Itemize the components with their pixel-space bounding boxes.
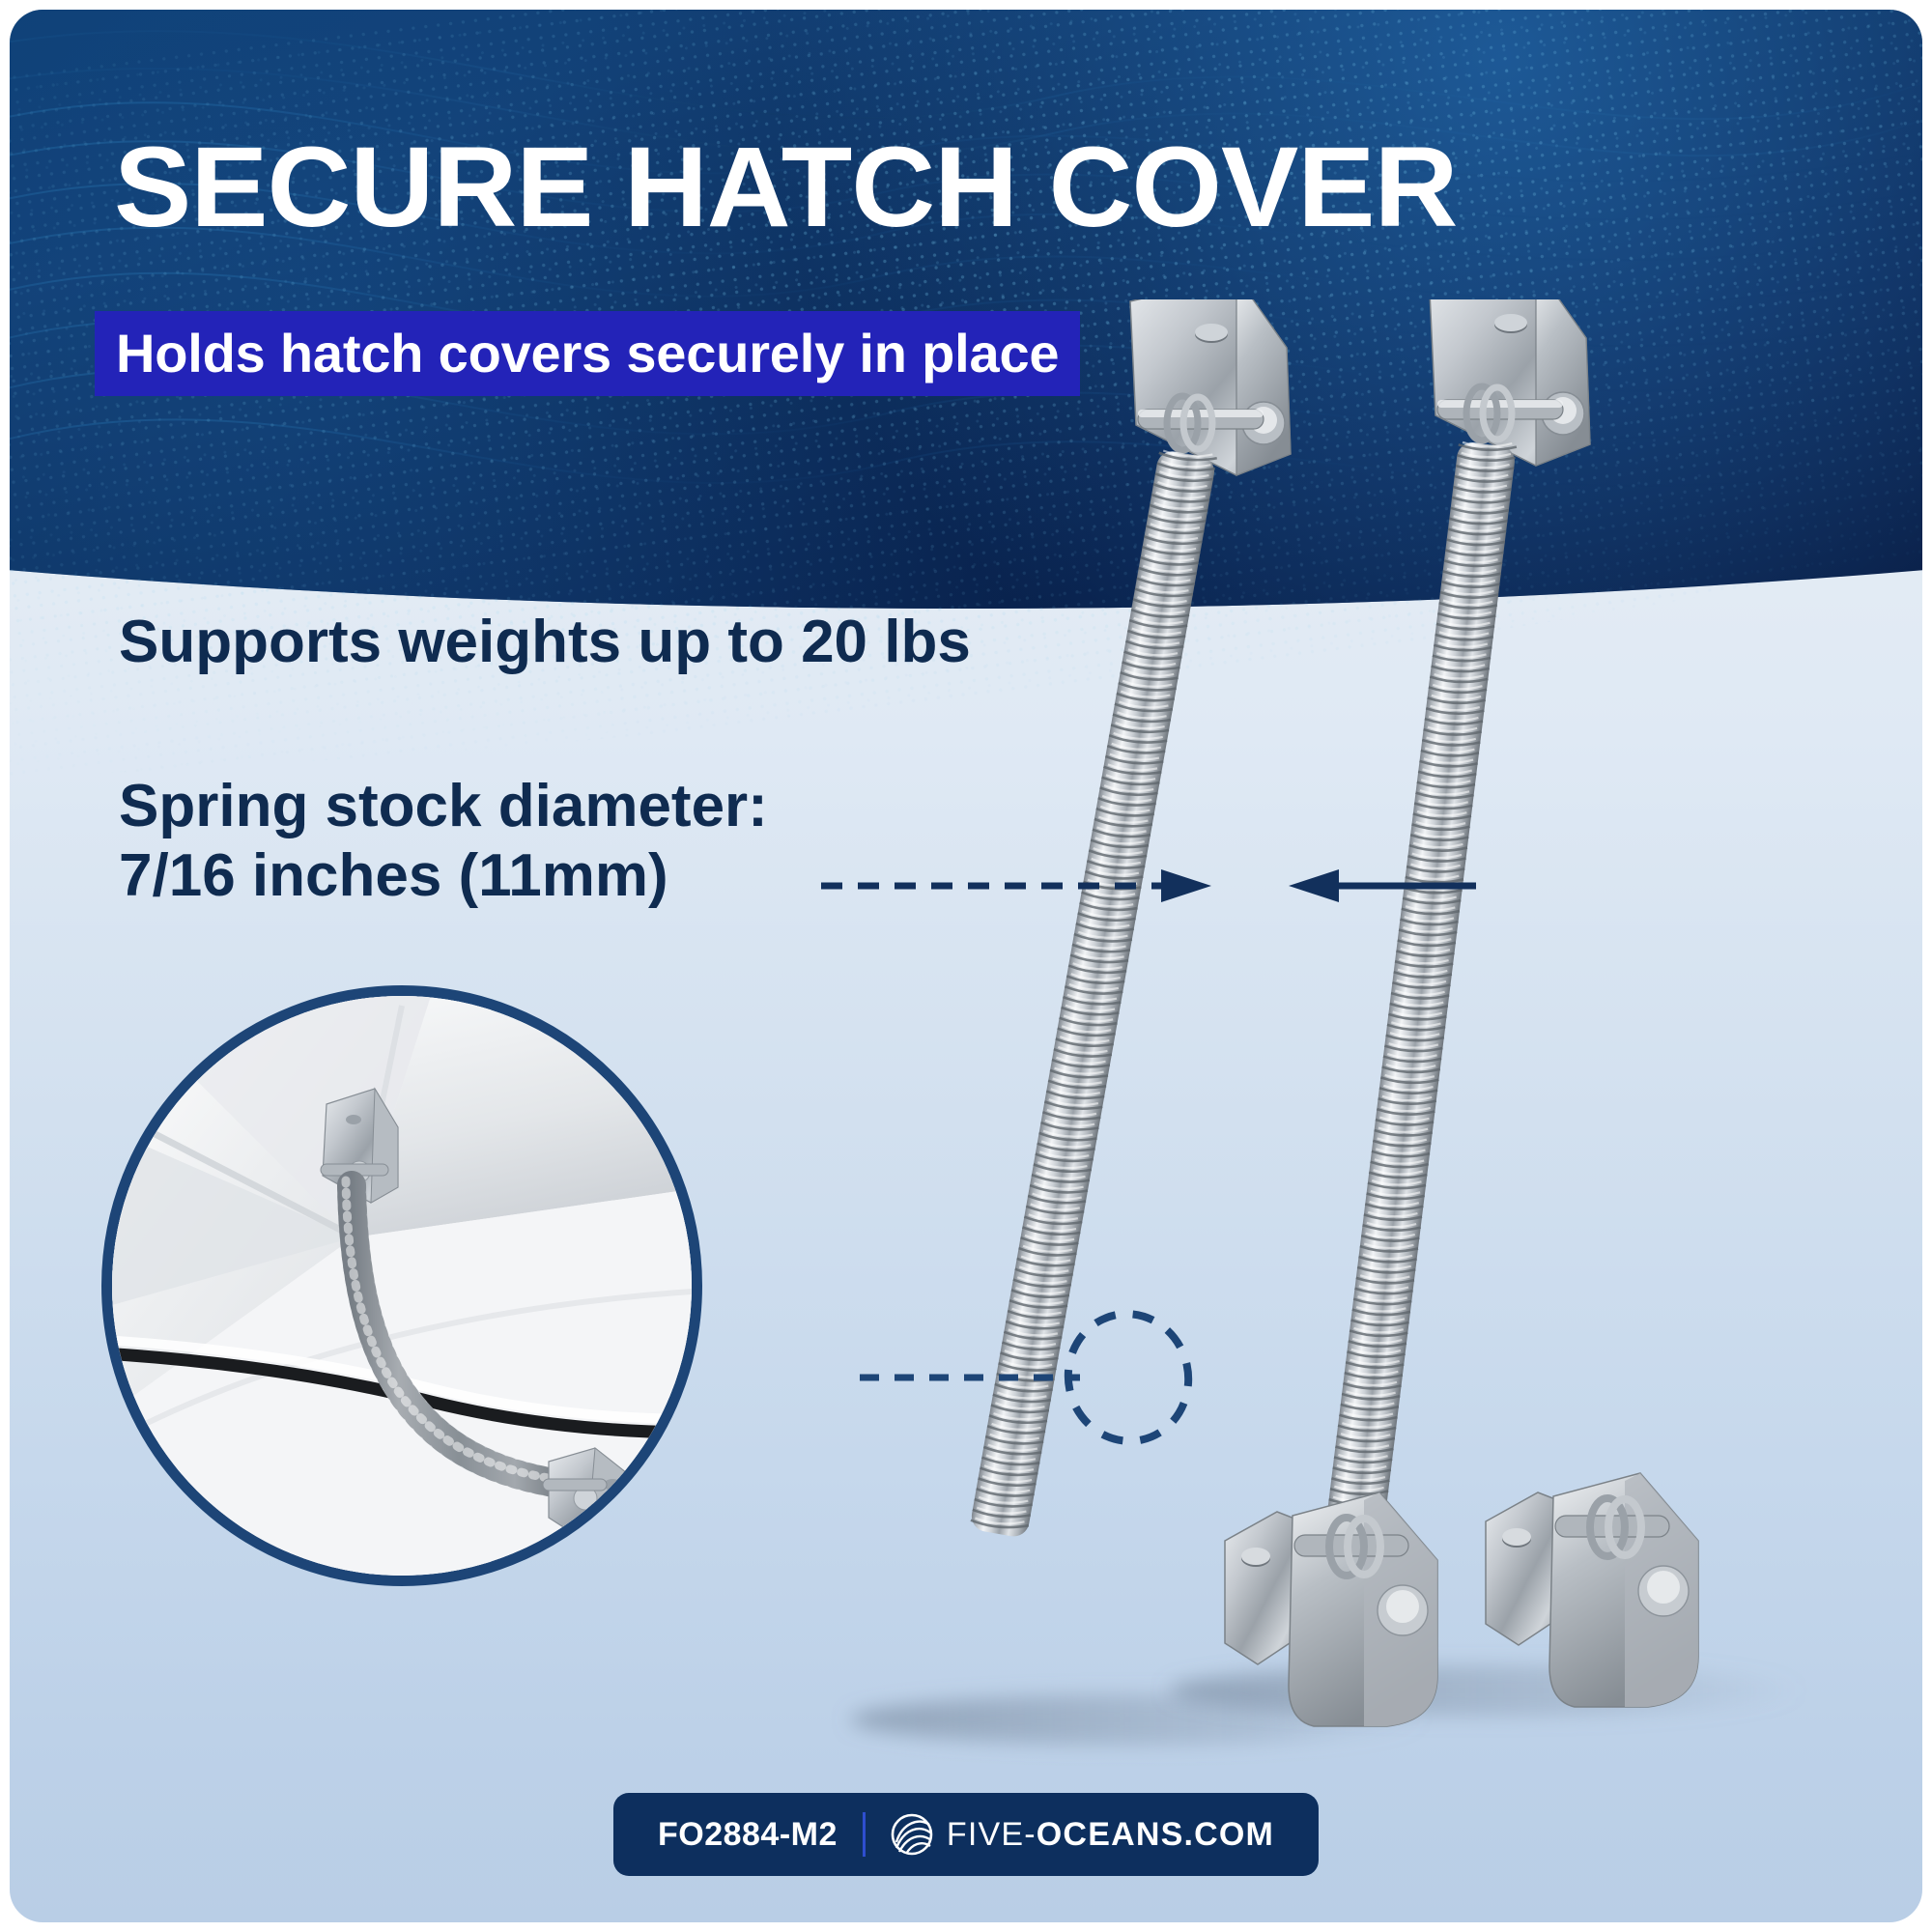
brand-lockup[interactable]: FIVE-OCEANS.COM bbox=[891, 1813, 1274, 1856]
product-image bbox=[821, 299, 1922, 1806]
installed-hatch-spring-photo bbox=[112, 996, 692, 1576]
spec-label-text: Spring stock diameter: bbox=[119, 773, 768, 839]
brand-name: FIVE-OCEANS.COM bbox=[947, 1818, 1274, 1851]
spring-coil bbox=[1325, 437, 1517, 1536]
arrow-right-icon bbox=[1161, 869, 1211, 902]
spring-detail-connector bbox=[860, 1294, 1207, 1468]
product-shadow bbox=[1169, 1665, 1806, 1716]
footer-bar: FO2884-M2 FIVE-OCEANS.COM bbox=[613, 1793, 1319, 1876]
arrow-left-icon bbox=[1289, 869, 1339, 902]
hatch-spring-left bbox=[969, 299, 1437, 1726]
footer-divider bbox=[863, 1812, 866, 1857]
spec-value-text: 7/16 inches (11mm) bbox=[119, 842, 668, 909]
shell-wave-globe-icon bbox=[891, 1813, 933, 1856]
diameter-dimension-arrows bbox=[821, 842, 1478, 929]
brand-prefix: FIVE- bbox=[947, 1816, 1037, 1853]
top-bracket bbox=[1430, 299, 1590, 466]
page-title: SECURE HATCH COVER bbox=[114, 130, 1457, 244]
installed-detail-inset bbox=[101, 985, 702, 1586]
brand-suffix: OCEANS.COM bbox=[1037, 1816, 1274, 1853]
top-bracket bbox=[1130, 299, 1291, 475]
infographic-card: SECURE HATCH COVER Holds hatch covers se… bbox=[10, 10, 1922, 1922]
product-sku: FO2884-M2 bbox=[658, 1818, 838, 1851]
